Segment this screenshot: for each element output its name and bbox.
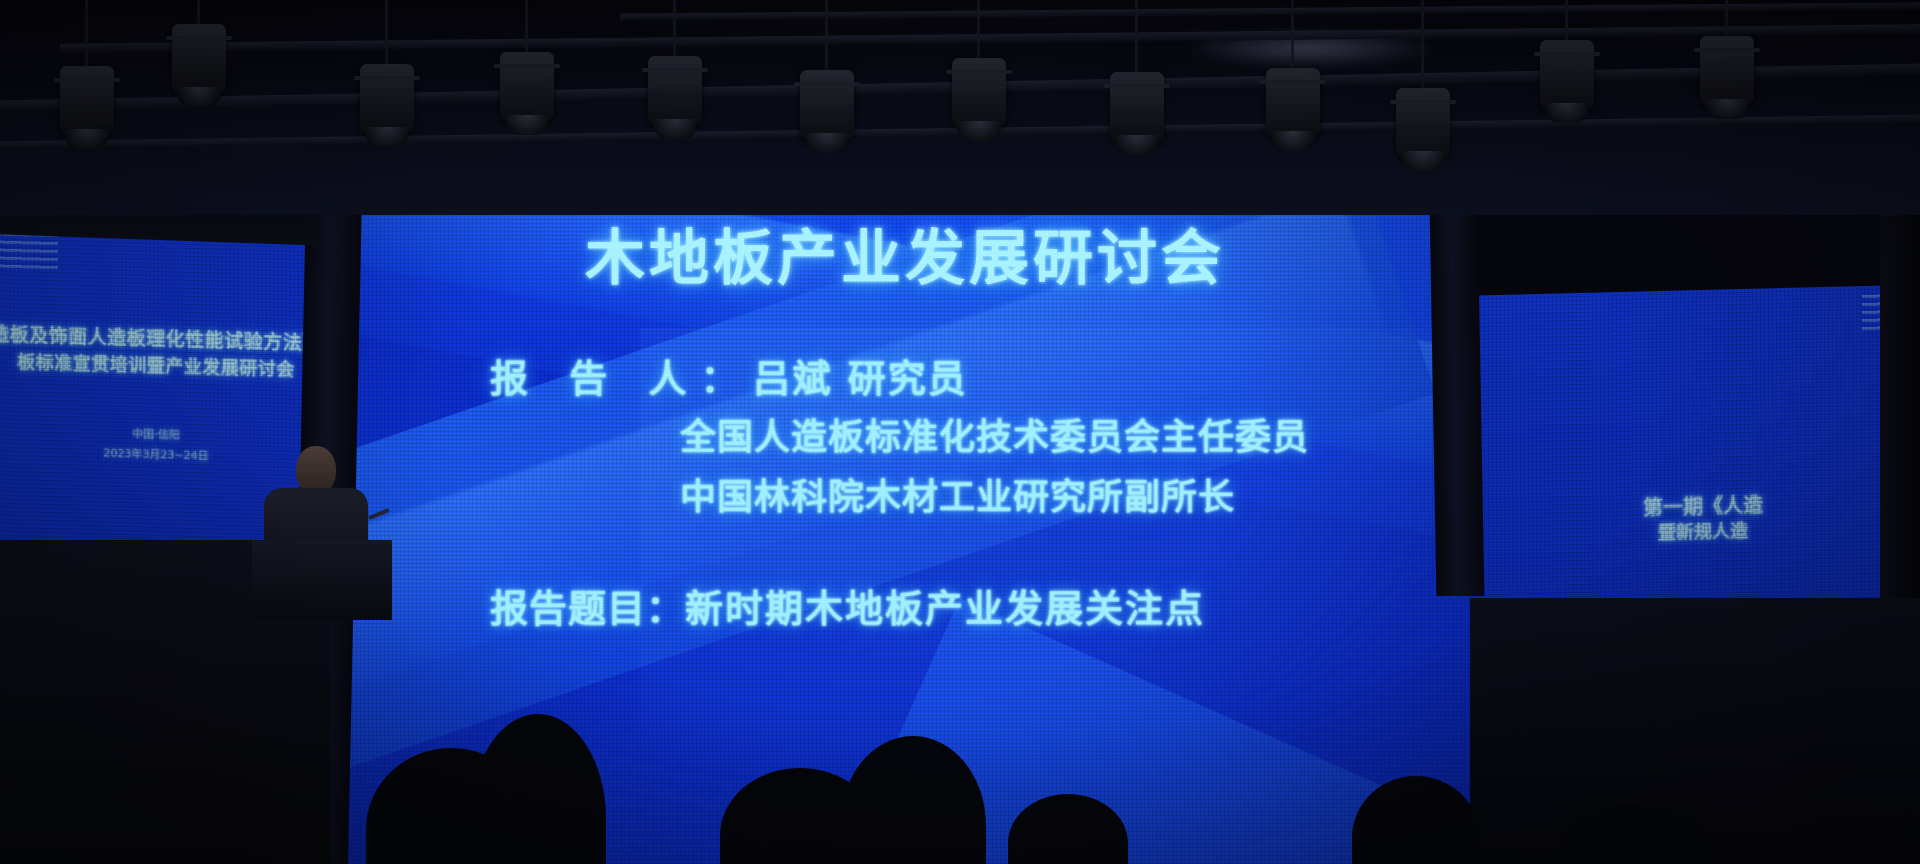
lamp-hanger-rod-0 xyxy=(85,0,88,72)
slide-title: 木地板产业发展研讨会 xyxy=(340,210,1470,297)
lamp-lens xyxy=(657,124,693,135)
lamp-lens xyxy=(1119,140,1155,151)
lamp-lens xyxy=(1405,156,1441,167)
topic-label: 报告题目： xyxy=(490,586,685,631)
lamp-lens xyxy=(69,134,105,145)
lamp-hanger-rod-7 xyxy=(1135,0,1138,78)
slide-affiliation-line-1: 全国人造板标准化技术委员会主任委员 xyxy=(680,408,1309,460)
lamp-lens xyxy=(1549,108,1585,119)
stage-lamp-icon-0 xyxy=(60,66,114,136)
lamp-lens xyxy=(369,132,405,143)
stage-lamp-icon-5 xyxy=(800,70,854,140)
left-screen-stripe-decoration xyxy=(0,231,58,269)
lamp-yoke xyxy=(1694,48,1760,52)
lamp-yoke xyxy=(494,64,560,68)
stage-lamp-icon-2 xyxy=(360,64,414,134)
speaker-name: 吕斌 研究员 xyxy=(752,356,967,401)
lamp-yoke xyxy=(1534,52,1600,56)
lamp-lens xyxy=(509,120,545,131)
lamp-yoke xyxy=(354,76,420,80)
lamp-yoke xyxy=(642,68,708,72)
right-led-screen: 第一期《人造 暨新规人造 xyxy=(1468,284,1920,615)
right-screen-shading xyxy=(1468,284,1920,615)
truss-beam-1 xyxy=(60,24,1920,52)
lamp-hanger-rod-4 xyxy=(673,0,676,62)
lamp-hanger-rod-3 xyxy=(525,0,528,58)
stage-lamp-icon-8 xyxy=(1266,68,1320,138)
slide-affiliation-line-2: 中国林科院木材工业研究所副所长 xyxy=(680,468,1235,520)
topic-value: 新时期木地板产业发展关注点 xyxy=(685,586,1205,631)
lamp-yoke xyxy=(794,82,860,86)
lamp-hanger-rod-2 xyxy=(385,0,388,70)
stage-lamp-icon-4 xyxy=(648,56,702,126)
stage-lamp-icon-3 xyxy=(500,52,554,122)
stage-lamp-icon-9 xyxy=(1396,88,1450,158)
lamp-lens xyxy=(1709,104,1745,115)
lamp-lens xyxy=(181,92,217,103)
lamp-hanger-rod-6 xyxy=(977,0,980,64)
lamp-yoke xyxy=(54,78,120,82)
stage-lamp-icon-7 xyxy=(1110,72,1164,142)
lamp-yoke xyxy=(1104,84,1170,88)
lamp-yoke xyxy=(1260,80,1326,84)
lamp-lens xyxy=(809,138,845,149)
lamp-lens xyxy=(1275,136,1311,147)
lamp-yoke xyxy=(1390,100,1456,104)
ceiling-dark-zone xyxy=(0,0,1920,215)
speaker-label: 报 告 人： xyxy=(490,356,752,401)
lamp-hanger-rod-8 xyxy=(1291,0,1294,74)
podium xyxy=(252,540,392,620)
presenter-head xyxy=(296,446,336,494)
lamp-lens xyxy=(961,126,997,137)
lamp-hanger-rod-5 xyxy=(825,0,828,76)
slide-topic-line: 报告题目：新时期木地板产业发展关注点 xyxy=(490,578,1205,633)
lamp-yoke xyxy=(166,36,232,40)
stage-lamp-icon-10 xyxy=(1540,40,1594,110)
stage-photo: 木地板产业发展研讨会 报 告 人：吕斌 研究员 全国人造板标准化技术委员会主任委… xyxy=(0,0,1920,864)
slide-speaker-line: 报 告 人：吕斌 研究员 xyxy=(490,348,968,403)
lamp-yoke xyxy=(946,70,1012,74)
stage-lamp-icon-11 xyxy=(1700,36,1754,106)
lamp-hanger-rod-9 xyxy=(1421,0,1424,94)
stage-lamp-icon-1 xyxy=(172,24,226,94)
stage-lamp-icon-6 xyxy=(952,58,1006,128)
